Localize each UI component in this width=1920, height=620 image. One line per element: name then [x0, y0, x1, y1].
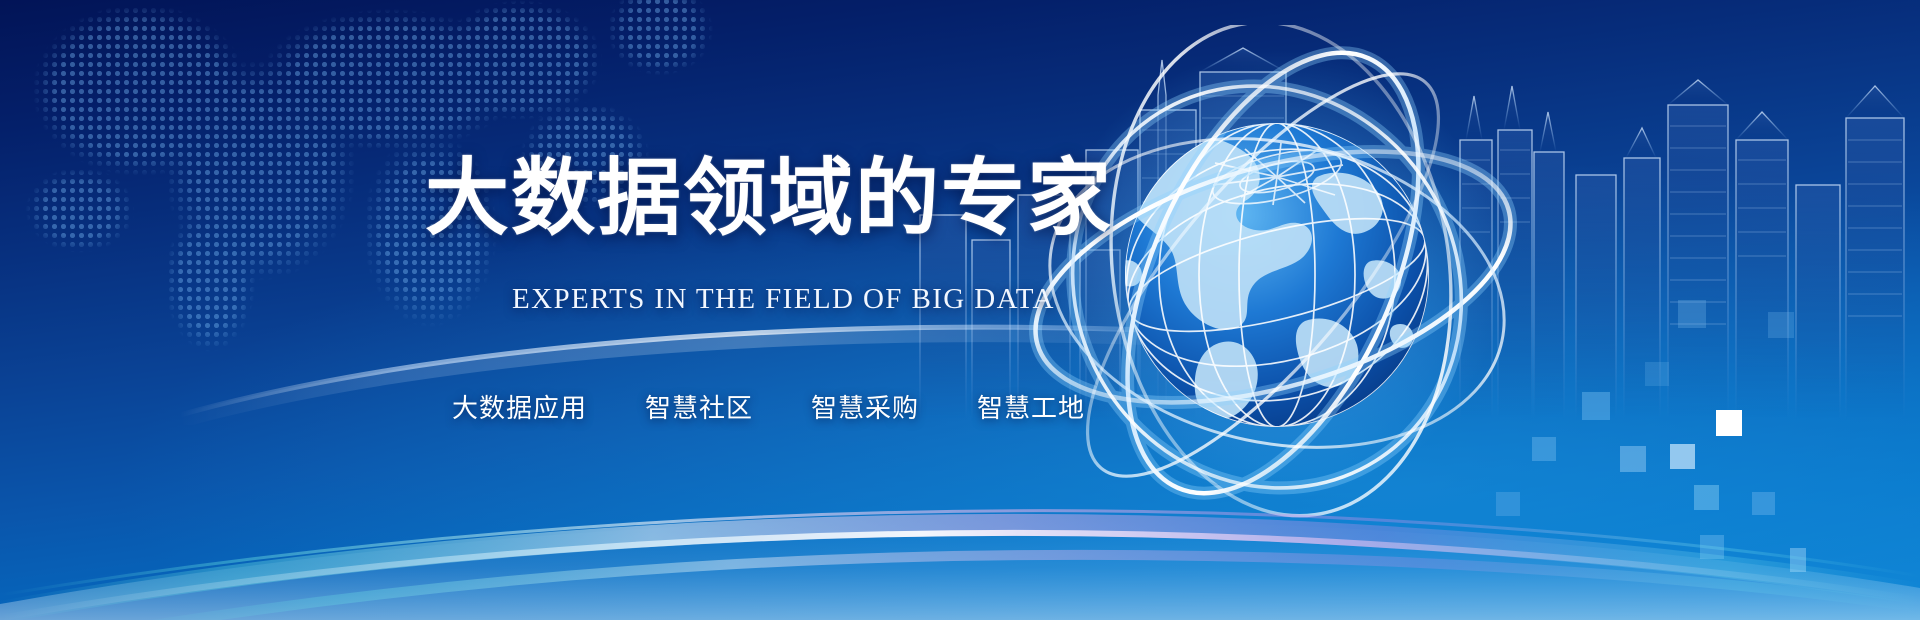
- nav-link-smart-community[interactable]: 智慧社区: [645, 388, 753, 425]
- banner-copy: 大数据领域的专家 EXPERTS IN THE FIELD OF BIG DAT…: [0, 0, 1100, 620]
- nav-link-smart-construction[interactable]: 智慧工地: [977, 388, 1085, 425]
- nav-link-smart-procurement[interactable]: 智慧采购: [811, 388, 919, 425]
- banner-nav: 大数据应用 智慧社区 智慧采购 智慧工地: [452, 388, 1085, 425]
- big-data-hero-banner: 大数据领域的专家 EXPERTS IN THE FIELD OF BIG DAT…: [0, 0, 1920, 620]
- page-title: 大数据领域的专家: [425, 156, 1113, 240]
- nav-link-big-data-application[interactable]: 大数据应用: [452, 388, 587, 425]
- page-subtitle: EXPERTS IN THE FIELD OF BIG DATA: [512, 283, 1055, 316]
